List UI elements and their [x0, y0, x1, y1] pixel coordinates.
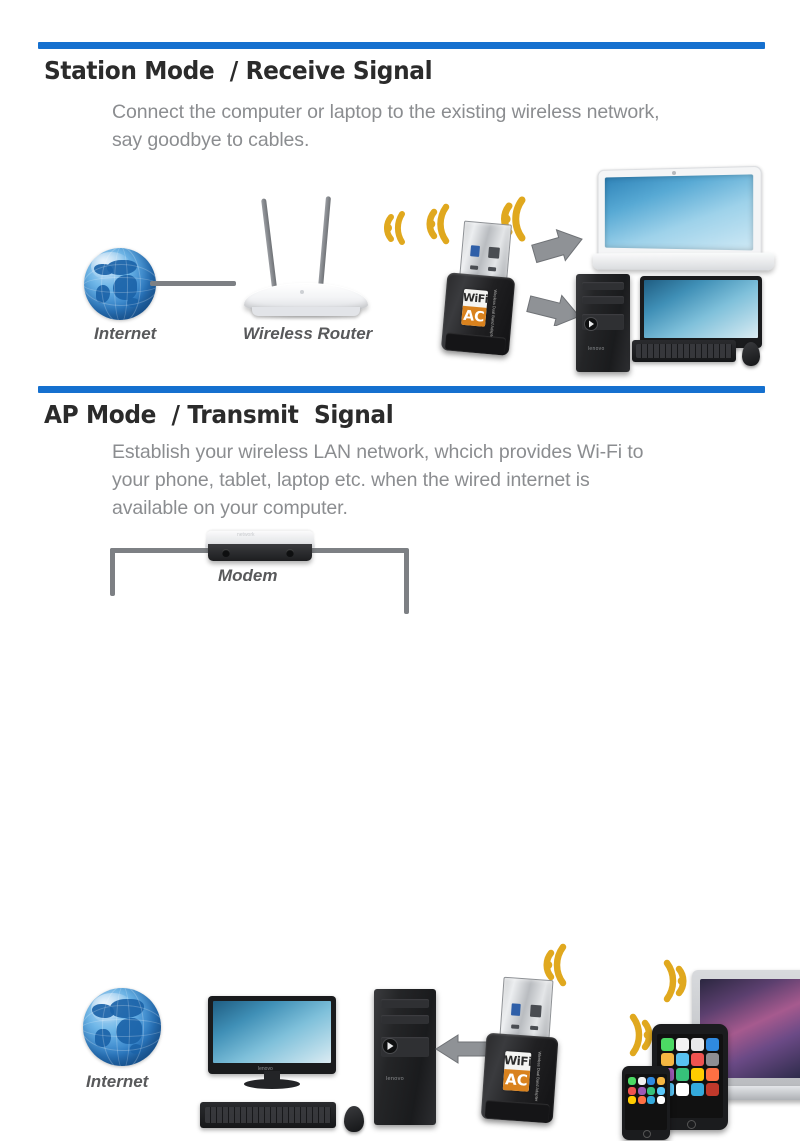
caption-internet-top: Internet [94, 324, 156, 344]
internet-cable [150, 281, 236, 286]
arrow-to-desktop [526, 288, 582, 326]
station-mode-heading: Station Mode / Receive Signal [44, 56, 432, 85]
adapter-ac-badge-bottom: AC [503, 1069, 530, 1092]
arrow-to-laptop [531, 228, 585, 264]
adapter-badge: WiFi AC [461, 289, 488, 327]
keyboard-top [632, 340, 736, 362]
wifi-signal-icon-1 [382, 206, 418, 246]
section-divider-top [38, 42, 765, 49]
caption-modem: Modem [218, 566, 278, 586]
caption-wireless-router: Wireless Router [243, 324, 372, 344]
ap-mode-description: Establish your wireless LAN network, whc… [112, 438, 732, 522]
modem-cable-right-h [310, 548, 408, 553]
product-infographic: Station Mode / Receive Signal Connect th… [0, 0, 800, 800]
adapter-badge-bottom: WiFi AC [503, 1051, 532, 1092]
mouse-bottom [344, 1106, 364, 1132]
adapter-wifi-label-bottom: WiFi [504, 1051, 532, 1068]
wifi-signal-icon-6 [612, 1010, 656, 1058]
wifi-signal-icon-5 [646, 956, 690, 1004]
tower-brand-mark: lenovo [588, 346, 605, 352]
ap-mode-heading: AP Mode / Transmit Signal [44, 400, 393, 429]
section-ap-mode: AP Mode / Transmit Signal Establish your… [0, 386, 800, 800]
keyboard-bottom [200, 1102, 336, 1128]
smartphone [622, 1066, 670, 1140]
station-mode-description: Connect the computer or laptop to the ex… [112, 98, 752, 154]
usb-wifi-adapter-top: WiFi AC Wireless Dual Band Adapter [430, 219, 526, 366]
usb-wifi-adapter-bottom: WiFi AC Wireless Dual Band Adapter [471, 975, 568, 1141]
section-divider-bottom [38, 386, 765, 393]
power-button-icon [584, 317, 598, 331]
tower-brand-mark-bottom: lenovo [386, 1076, 404, 1082]
globe-internet-icon-bottom [83, 988, 161, 1066]
section-station-mode: Station Mode / Receive Signal Connect th… [0, 0, 800, 386]
adapter-ac-badge: AC [461, 306, 487, 327]
caption-internet-bottom: Internet [86, 1072, 148, 1092]
modem-cable-right [404, 548, 409, 614]
globe-internet-icon [84, 248, 156, 320]
adapter-wifi-label: WiFi [462, 289, 488, 305]
power-button-icon-bottom [382, 1038, 398, 1054]
modem-cable-left [110, 548, 115, 596]
mouse-top [742, 342, 760, 366]
wifi-signal-icon-4 [540, 940, 582, 988]
modem-cable-left-h [110, 548, 214, 553]
